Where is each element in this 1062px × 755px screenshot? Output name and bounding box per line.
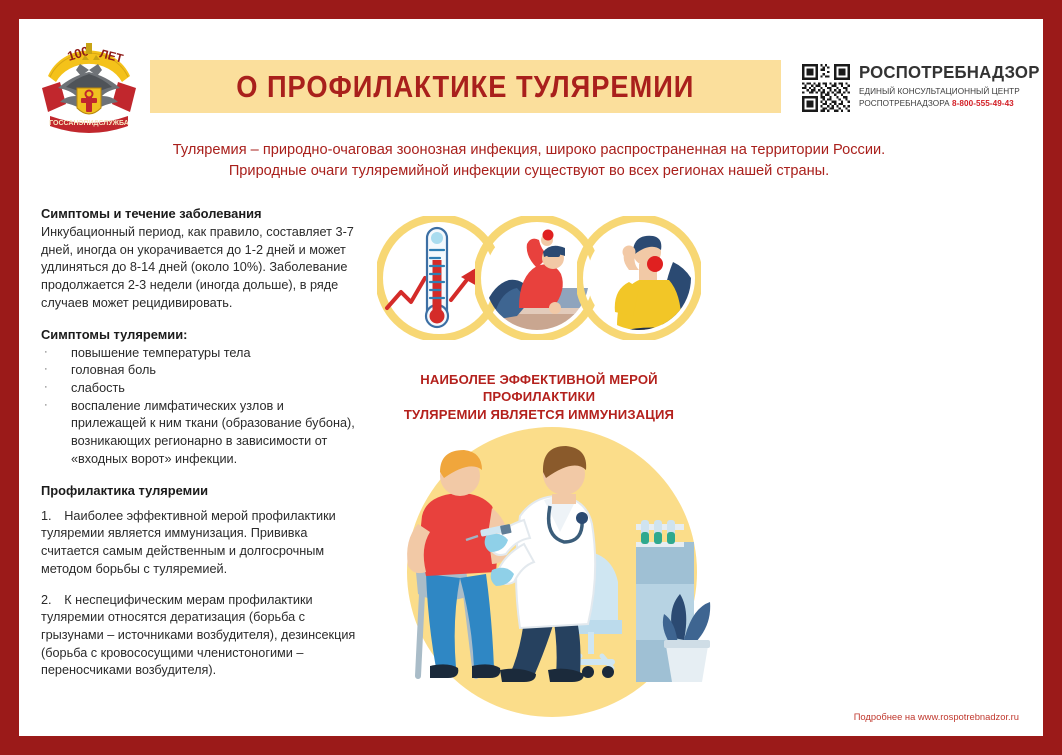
prevention-heading: Профилактика туляремии	[41, 482, 361, 500]
poster-inner-frame: 100 ЛЕТ ГОССАНЭПИДСЛУЖБА	[7, 7, 1055, 748]
list-item-label: слабость	[71, 380, 361, 398]
left-column: Симптомы и течение заболевания Инкубацио…	[41, 205, 361, 680]
list-item: · слабость	[41, 380, 361, 398]
brand-subtitle: ЕДИНЫЙ КОНСУЛЬТАЦИОННЫЙ ЦЕНТР РОСПОТРЕБН…	[859, 86, 1047, 109]
qr-code-icon[interactable]	[802, 64, 850, 112]
header: 100 ЛЕТ ГОССАНЭПИДСЛУЖБА	[19, 19, 1043, 131]
brand-text-block: РОСПОТРЕБНАДЗОР ЕДИНЫЙ КОНСУЛЬТАЦИОННЫЙ …	[859, 61, 1047, 109]
swollen-lymph-node-icon	[577, 216, 701, 340]
center-heading-line2: ТУЛЯРЕМИИ ЯВЛЯЕТСЯ ИММУНИЗАЦИЯ	[371, 406, 707, 423]
list-item-label: воспаление лимфатических узлов и прилежа…	[71, 398, 361, 469]
footer-note[interactable]: Подробнее на www.rospotrebnadzor.ru	[854, 711, 1019, 722]
poster-frame: 100 ЛЕТ ГОССАНЭПИДСЛУЖБА	[0, 0, 1062, 755]
intro-line-2: Природные очаги туляремийной инфекции су…	[79, 161, 979, 182]
list-item-label: головная боль	[71, 362, 361, 380]
list-item: · повышение температуры тела	[41, 345, 361, 363]
hotline-phone[interactable]: 8-800-555-49-43	[952, 99, 1014, 108]
center-heading: НАИБОЛЕЕ ЭФФЕКТИВНОЙ МЕРОЙ ПРОФИЛАКТИКИ …	[371, 371, 707, 423]
bullet-marker-icon: ·	[41, 398, 71, 469]
page-title: О ПРОФИЛАКТИКЕ ТУЛЯРЕМИИ	[236, 69, 694, 105]
list-item: · воспаление лимфатических узлов и приле…	[41, 398, 361, 469]
symptoms-list-heading: Симптомы туляремии:	[41, 326, 361, 344]
bullet-marker-icon: ·	[41, 362, 71, 380]
rospotrebnadzor-emblem-icon: 100 ЛЕТ ГОССАНЭПИДСЛУЖБА	[36, 30, 142, 138]
prevention-item-2: 2. К неспецифическим мерам профилактики …	[41, 592, 361, 681]
symptoms-heading: Симптомы и течение заболевания	[41, 205, 361, 223]
intro-line-1: Туляремия – природно-очаговая зоонозная …	[79, 140, 979, 161]
brand-name: РОСПОТРЕБНАДЗОР	[859, 62, 1040, 83]
intro-text: Туляремия – природно-очаговая зоонозная …	[79, 140, 979, 181]
brand-subtitle-line1: ЕДИНЫЙ КОНСУЛЬТАЦИОННЫЙ ЦЕНТР	[859, 86, 1047, 98]
title-banner: О ПРОФИЛАКТИКЕ ТУЛЯРЕМИИ	[150, 60, 781, 113]
vaccination-illustration	[374, 424, 714, 734]
prevention-item-1: 1. Наиболее эффективной мерой профилакти…	[41, 508, 361, 579]
brand-block: РОСПОТРЕБНАДЗОР ЕДИНЫЙ КОНСУЛЬТАЦИОННЫЙ …	[802, 61, 1047, 117]
center-heading-line1: НАИБОЛЕЕ ЭФФЕКТИВНОЙ МЕРОЙ ПРОФИЛАКТИКИ	[371, 371, 707, 406]
svg-text:ГОССАНЭПИДСЛУЖБА: ГОССАНЭПИДСЛУЖБА	[49, 120, 129, 127]
poster-sheet: 100 ЛЕТ ГОССАНЭПИДСЛУЖБА	[19, 19, 1043, 736]
symptoms-body: Инкубационный период, как правило, соста…	[41, 224, 361, 313]
bullet-marker-icon: ·	[41, 345, 71, 363]
symptom-icon-group	[377, 216, 707, 349]
list-item-label: повышение температуры тела	[71, 345, 361, 363]
list-item: · головная боль	[41, 362, 361, 380]
bullet-marker-icon: ·	[41, 380, 71, 398]
brand-subtitle-line2: РОСПОТРЕБНАДЗОРА 8-800-555-49-43	[859, 98, 1047, 110]
